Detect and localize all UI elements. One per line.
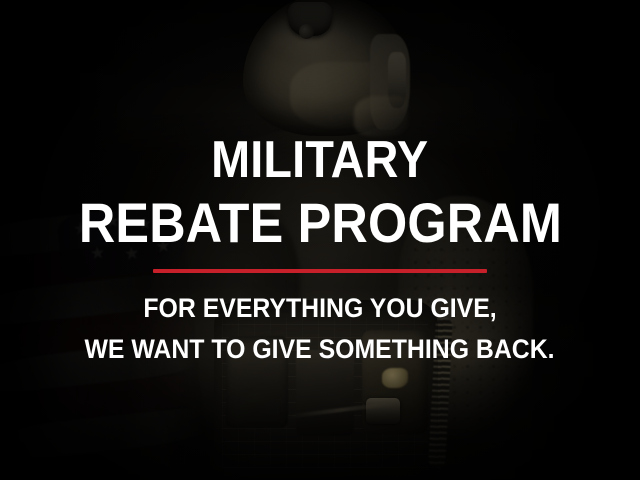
red-divider-rule xyxy=(153,269,487,273)
subheadline-line-1: FOR EVERYTHING YOU GIVE, xyxy=(143,295,496,322)
banner-content: MILITARY REBATE PROGRAM FOR EVERYTHING Y… xyxy=(0,0,640,480)
military-rebate-program-banner: ★ ★ ★ ★ ★ ★ MILITARY REBATE PROGRAM FOR … xyxy=(0,0,640,480)
headline-line-2: REBATE PROGRAM xyxy=(78,195,561,251)
headline-line-1: MILITARY xyxy=(211,134,428,186)
subheadline-line-2: WE WANT TO GIVE SOMETHING BACK. xyxy=(85,336,555,363)
